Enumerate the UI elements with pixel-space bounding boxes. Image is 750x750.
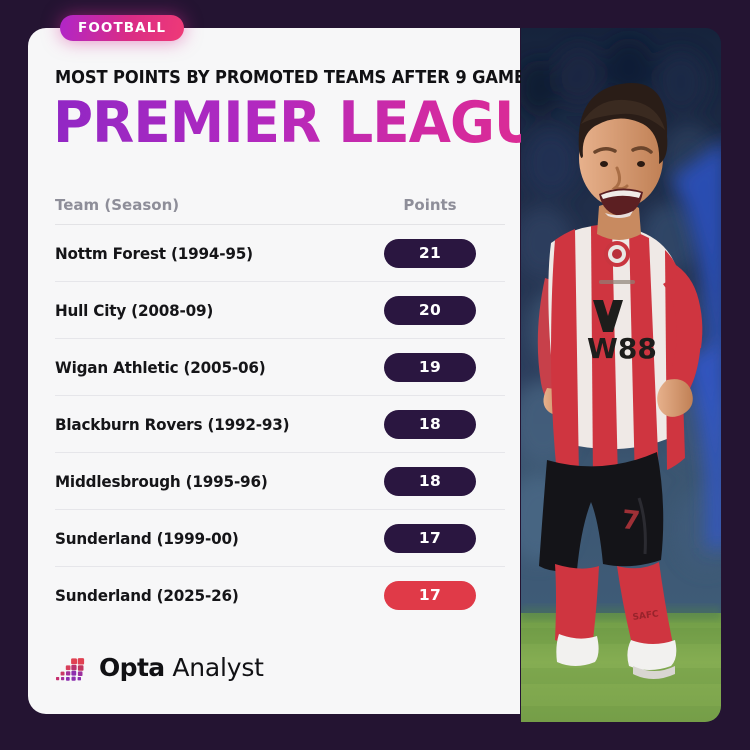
svg-text:7: 7 xyxy=(620,505,641,537)
cell-team: Sunderland (1999-00) xyxy=(55,529,340,548)
table-row[interactable]: Middlesbrough (1995-96) 18 xyxy=(55,453,505,510)
cell-points: 18 xyxy=(355,467,505,496)
svg-text:W88: W88 xyxy=(587,332,657,365)
cell-points: 20 xyxy=(355,296,505,325)
brand-logo: Opta Analyst xyxy=(55,652,264,682)
infographic-root: FOOTBALL MOST POINTS BY PROMOTED TEAMS A… xyxy=(0,0,750,750)
table-row[interactable]: Sunderland (1999-00) 17 xyxy=(55,510,505,567)
kicker-text: MOST POINTS BY PROMOTED TEAMS AFTER 9 GA… xyxy=(55,68,537,88)
table-row[interactable]: Hull City (2008-09) 20 xyxy=(55,282,505,339)
cell-team: Middlesbrough (1995-96) xyxy=(55,472,340,491)
brand-name-opta: Opta xyxy=(99,653,165,682)
table-row[interactable]: Nottm Forest (1994-95) 21 xyxy=(55,225,505,282)
table-header-row: Team (Season) Points xyxy=(55,186,505,225)
cell-team: Nottm Forest (1994-95) xyxy=(55,244,340,263)
points-pill: 19 xyxy=(384,353,476,382)
cell-team: Sunderland (2025-26) xyxy=(55,586,340,605)
stats-table: Team (Season) Points Nottm Forest (1994-… xyxy=(55,186,505,623)
brand-logo-text: Opta Analyst xyxy=(99,655,264,680)
page-title: PREMIER LEAGUE xyxy=(53,92,574,154)
points-pill-highlighted: 17 xyxy=(384,581,476,610)
brand-name-analyst: Analyst xyxy=(165,653,264,682)
points-pill: 21 xyxy=(384,239,476,268)
cell-team: Blackburn Rovers (1992-93) xyxy=(55,415,340,434)
table-row[interactable]: Blackburn Rovers (1992-93) 18 xyxy=(55,396,505,453)
table-row-highlighted[interactable]: Sunderland (2025-26) 17 xyxy=(55,567,505,623)
column-header-points: Points xyxy=(355,196,505,214)
cell-points: 18 xyxy=(355,410,505,439)
points-pill: 18 xyxy=(384,410,476,439)
cell-team: Hull City (2008-09) xyxy=(55,301,340,320)
cell-points: 17 xyxy=(355,524,505,553)
category-badge-label: FOOTBALL xyxy=(78,20,166,36)
player-photo: W88 xyxy=(521,28,721,722)
column-header-team: Team (Season) xyxy=(55,196,355,214)
cell-points: 21 xyxy=(355,239,505,268)
cell-points: 19 xyxy=(355,353,505,382)
points-pill: 18 xyxy=(384,467,476,496)
points-pill: 17 xyxy=(384,524,476,553)
cell-points: 17 xyxy=(355,581,505,610)
category-badge[interactable]: FOOTBALL xyxy=(60,15,184,41)
table-row[interactable]: Wigan Athletic (2005-06) 19 xyxy=(55,339,505,396)
opta-staircase-icon xyxy=(55,652,89,682)
points-pill: 20 xyxy=(384,296,476,325)
cell-team: Wigan Athletic (2005-06) xyxy=(55,358,340,377)
